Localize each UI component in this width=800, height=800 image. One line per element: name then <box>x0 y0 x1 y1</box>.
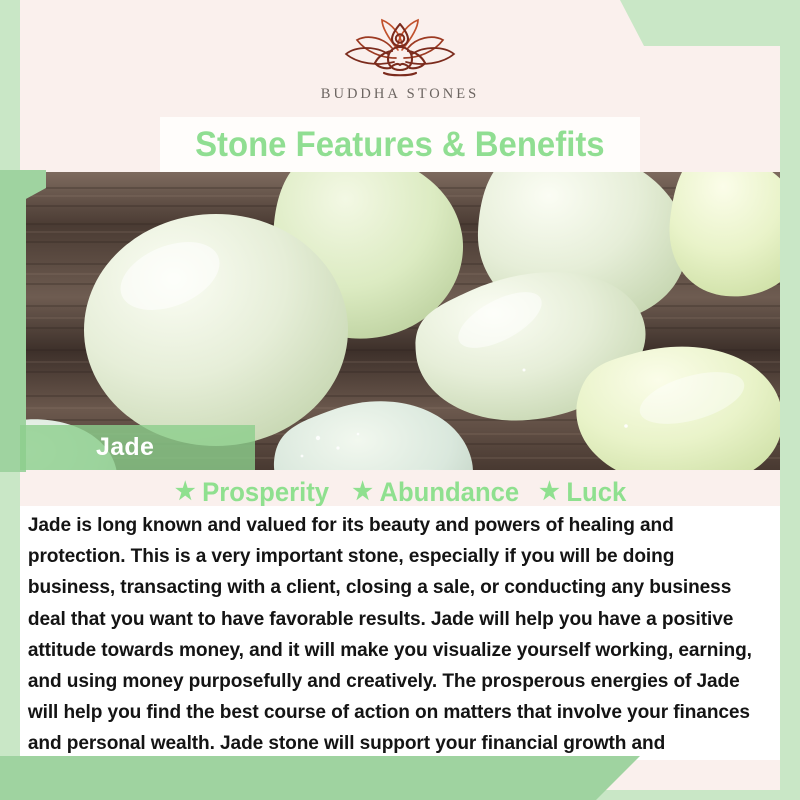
brand-wordmark: BUDDHA STONES <box>321 86 479 103</box>
star-icon: ★ <box>175 480 195 504</box>
benefit-label: Prosperity <box>203 477 330 508</box>
benefit-label: Abundance <box>379 477 519 508</box>
benefit-prosperity: ★ Prosperity <box>175 477 329 508</box>
star-icon: ★ <box>539 480 559 504</box>
right-green-edge <box>780 0 800 800</box>
stone-name: Jade <box>96 433 154 462</box>
lotus-meditation-icon <box>332 18 468 84</box>
bottom-green-band <box>0 756 640 800</box>
infographic-page: BUDDHA STONES Stone Features & Benefits <box>0 0 800 800</box>
benefits-row: ★ Prosperity ★ Abundance ★ Luck <box>20 476 780 508</box>
benefit-luck: ★ Luck <box>539 477 626 508</box>
description-block: Jade is long known and valued for its be… <box>20 506 780 760</box>
brand-logo: BUDDHA STONES <box>0 18 800 114</box>
stone-name-label: Jade <box>20 425 255 470</box>
page-title: Stone Features & Benefits <box>195 125 605 165</box>
benefit-label: Luck <box>566 477 626 508</box>
description-text: Jade is long known and valued for its be… <box>20 506 769 800</box>
star-icon: ★ <box>352 480 372 504</box>
title-banner: Stone Features & Benefits <box>160 117 640 173</box>
benefit-abundance: ★ Abundance <box>352 477 519 508</box>
